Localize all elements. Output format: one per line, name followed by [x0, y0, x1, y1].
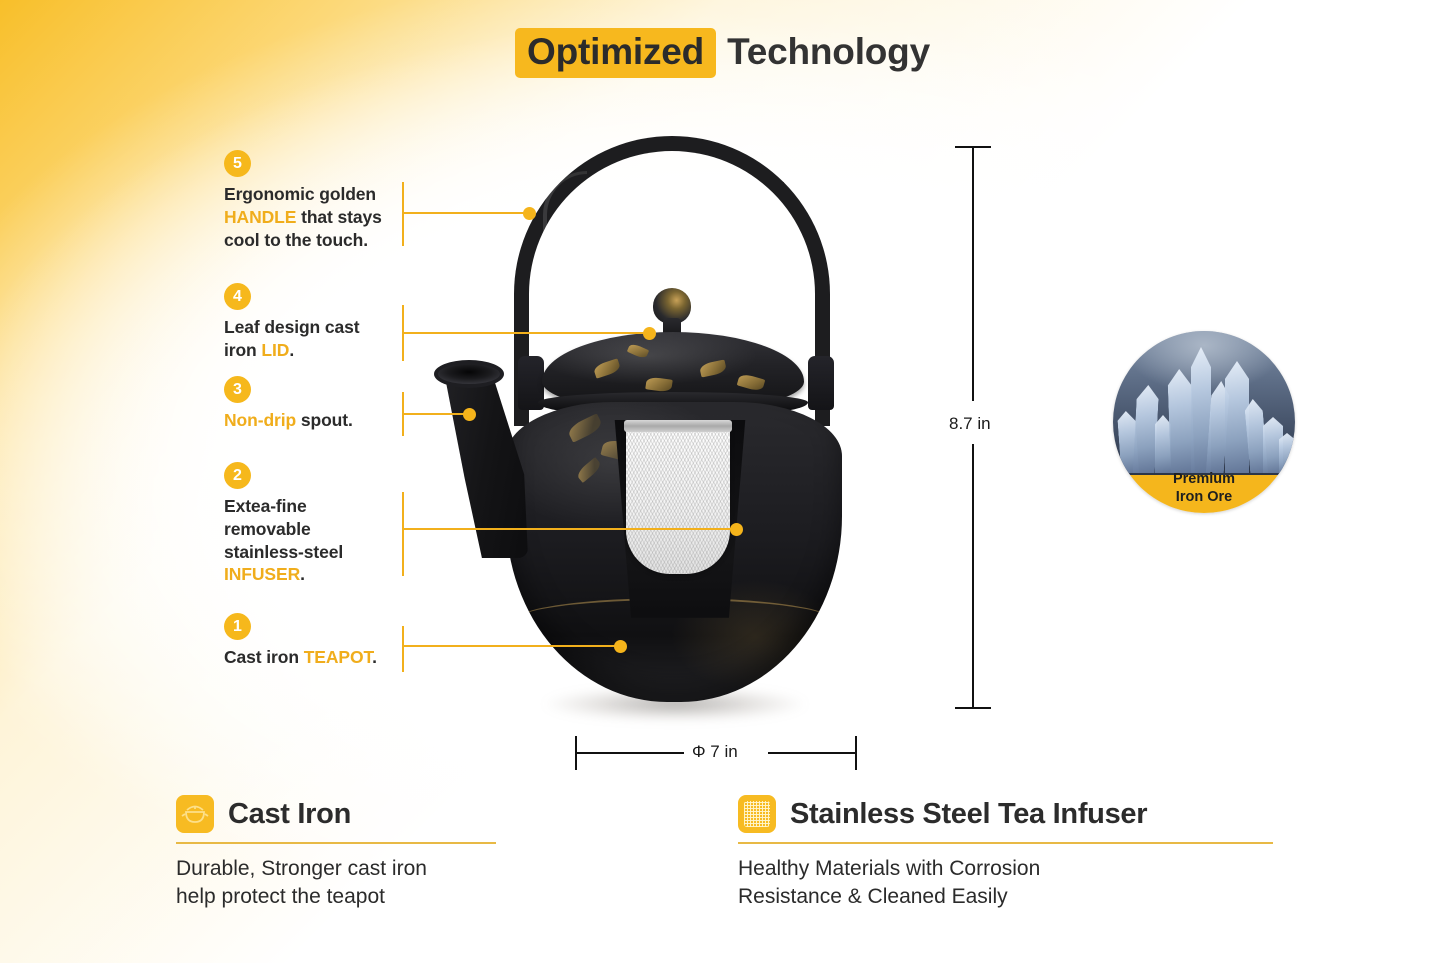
callout-3-line1-b: spout.: [296, 410, 353, 430]
width-dim-label: Φ 7 in: [692, 742, 738, 762]
lid-leaf-motif: [645, 376, 673, 392]
callout-1-line1-c: .: [372, 647, 377, 667]
callout-5-bracket: [402, 182, 404, 246]
feature-body-line2: help protect the teapot: [176, 883, 496, 911]
infographic-page: OptimizedTechnology: [0, 0, 1445, 963]
ore-badge-line1: Premium: [1113, 471, 1295, 489]
callout-4-line1-a: Leaf design cast: [224, 317, 360, 337]
callout-badge-3: 3: [224, 376, 251, 403]
premium-iron-ore-badge: Premium Iron Ore: [1113, 331, 1295, 513]
title-highlight: Optimized: [515, 28, 716, 78]
callout-text-3: Non-drip spout.: [224, 409, 424, 432]
callout-1-leader: [402, 645, 618, 647]
height-dim-line-lower: [972, 444, 974, 708]
ore-badge-line2: Iron Ore: [1113, 489, 1295, 507]
feature-divider: [176, 842, 496, 844]
handle-lug-right: [808, 356, 834, 410]
feature-stainless-steel-infuser: Stainless Steel Tea Infuser Healthy Mate…: [738, 795, 1273, 911]
width-dim-line-right: [768, 752, 856, 754]
callout-3-anchor-dot: [463, 408, 476, 421]
callout-4-line2-c: .: [289, 340, 294, 360]
callout-1-bracket: [402, 626, 404, 672]
callout-3-keyword: Non-drip: [224, 410, 296, 430]
spout-opening: [434, 360, 504, 388]
callout-1-keyword: TEAPOT: [304, 647, 372, 667]
callout-3: 3 Non-drip spout.: [224, 376, 424, 432]
callout-1-anchor-dot: [614, 640, 627, 653]
body-emboss: [566, 413, 604, 442]
callout-5: 5 Ergonomic golden HANDLE that stays coo…: [224, 150, 424, 251]
mesh-screen-icon-glyph: [744, 801, 770, 827]
callout-4: 4 Leaf design cast iron LID.: [224, 283, 424, 362]
ore-crystal: [1279, 433, 1295, 473]
callout-2-line3-a: stainless-steel: [224, 542, 343, 562]
callout-5-line3-a: cool to the touch.: [224, 230, 368, 250]
callout-2-line4-b: .: [300, 564, 305, 584]
callout-text-4: Leaf design cast iron LID.: [224, 316, 424, 362]
callout-2-anchor-dot: [730, 523, 743, 536]
ore-crystal: [1167, 369, 1195, 473]
teapot-icon-glyph: [176, 795, 214, 833]
feature-title: Cast Iron: [228, 798, 351, 831]
callout-5-line2-b: that stays: [296, 207, 381, 227]
height-dim-label: 8.7 in: [949, 414, 991, 434]
callout-1: 1 Cast iron TEAPOT.: [224, 613, 424, 669]
feature-title: Stainless Steel Tea Infuser: [790, 798, 1147, 831]
feature-body: Durable, Stronger cast iron help protect…: [176, 855, 496, 911]
callout-text-1: Cast iron TEAPOT.: [224, 646, 424, 669]
callout-2-bracket: [402, 492, 404, 576]
body-cutaway-window: [612, 420, 748, 650]
callout-badge-4: 4: [224, 283, 251, 310]
ore-crystal: [1155, 415, 1171, 473]
height-dim-line-upper: [972, 146, 974, 401]
feature-divider: [738, 842, 1273, 844]
lid-leaf-motif: [593, 358, 622, 378]
callout-2-leader: [402, 528, 734, 530]
feature-body-line1: Durable, Stronger cast iron: [176, 855, 496, 883]
infuser-rim: [624, 420, 732, 432]
callout-4-leader: [402, 332, 647, 334]
iron-ore-crystal-image: [1113, 331, 1295, 475]
callout-5-keyword: HANDLE: [224, 207, 296, 227]
body-emboss: [575, 457, 603, 483]
callout-2: 2 Extea-fine removable stainless-steel I…: [224, 462, 424, 586]
feature-body-line2: Resistance & Cleaned Easily: [738, 883, 1273, 911]
callout-4-keyword: LID: [261, 340, 289, 360]
lid-leaf-motif: [737, 373, 766, 393]
feature-body: Healthy Materials with Corrosion Resista…: [738, 855, 1273, 911]
height-dim-cap-bottom: [955, 707, 991, 709]
callout-4-line2-a: iron: [224, 340, 261, 360]
callout-badge-5: 5: [224, 150, 251, 177]
feature-cast-iron: Cast Iron Durable, Stronger cast iron he…: [176, 795, 496, 911]
lid-leaf-motif: [627, 342, 649, 359]
callout-text-5: Ergonomic golden HANDLE that stays cool …: [224, 183, 424, 251]
stainless-steel-infuser-mesh: [626, 422, 730, 574]
callout-5-line1-a: Ergonomic golden: [224, 184, 376, 204]
callout-2-line1-a: Extea-fine: [224, 496, 307, 516]
callout-badge-1: 1: [224, 613, 251, 640]
lid-leaf-motif: [699, 359, 727, 377]
width-dim-cap-right: [855, 736, 857, 770]
feature-heading-row: Stainless Steel Tea Infuser: [738, 795, 1273, 833]
callout-3-leader: [402, 413, 467, 415]
width-dim-line-left: [575, 752, 684, 754]
feature-body-line1: Healthy Materials with Corrosion: [738, 855, 1273, 883]
teapot-icon: [176, 795, 214, 833]
callout-5-anchor-dot: [523, 207, 536, 220]
page-title: OptimizedTechnology: [0, 28, 1445, 78]
callout-5-leader: [402, 212, 527, 214]
title-plain: Technology: [716, 30, 930, 74]
mesh-screen-icon: [738, 795, 776, 833]
callout-2-line2-a: removable: [224, 519, 311, 539]
feature-heading-row: Cast Iron: [176, 795, 496, 833]
ore-badge-label: Premium Iron Ore: [1113, 471, 1295, 506]
callout-badge-2: 2: [224, 462, 251, 489]
callout-text-2: Extea-fine removable stainless-steel INF…: [224, 495, 424, 586]
callout-4-anchor-dot: [643, 327, 656, 340]
callout-1-line1-a: Cast iron: [224, 647, 304, 667]
callout-2-keyword: INFUSER: [224, 564, 300, 584]
